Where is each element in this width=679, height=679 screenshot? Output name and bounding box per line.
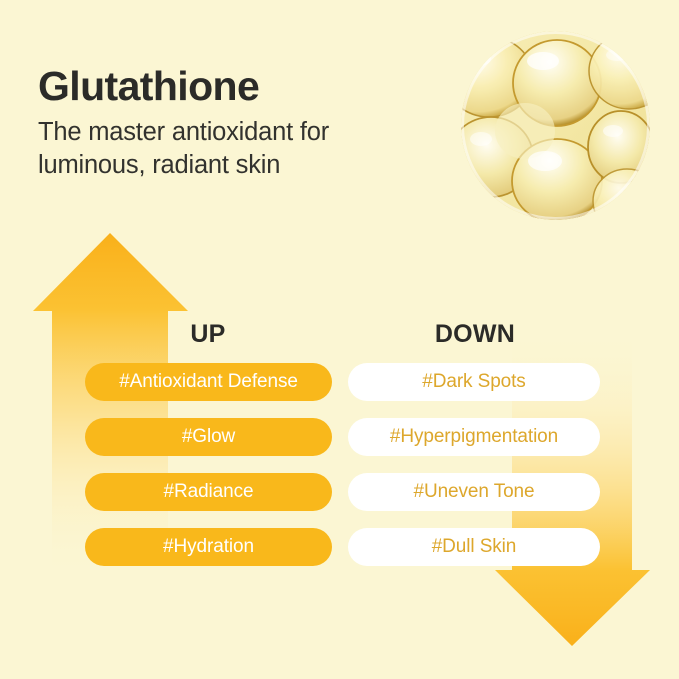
pill-item[interactable]: #Glow — [85, 418, 332, 456]
page-subtitle: The master antioxidant for luminous, rad… — [38, 116, 438, 182]
pill-item[interactable]: #Hydration — [85, 528, 332, 566]
infographic-canvas: Glutathione The master antioxidant for l… — [0, 0, 679, 679]
pill-column-down: #Dark Spots #Hyperpigmentation #Uneven T… — [348, 363, 600, 566]
pill-item[interactable]: #Hyperpigmentation — [348, 418, 600, 456]
pill-item[interactable]: #Dull Skin — [348, 528, 600, 566]
oil-capsules-photo — [461, 31, 650, 220]
column-header-up: UP — [128, 320, 288, 349]
pill-item[interactable]: #Dark Spots — [348, 363, 600, 401]
pill-item[interactable]: #Antioxidant Defense — [85, 363, 332, 401]
pill-item[interactable]: #Uneven Tone — [348, 473, 600, 511]
column-header-down: DOWN — [395, 320, 555, 349]
page-title: Glutathione — [38, 66, 438, 107]
pill-column-up: #Antioxidant Defense #Glow #Radiance #Hy… — [85, 363, 332, 566]
header-block: Glutathione The master antioxidant for l… — [38, 66, 438, 182]
pill-item[interactable]: #Radiance — [85, 473, 332, 511]
